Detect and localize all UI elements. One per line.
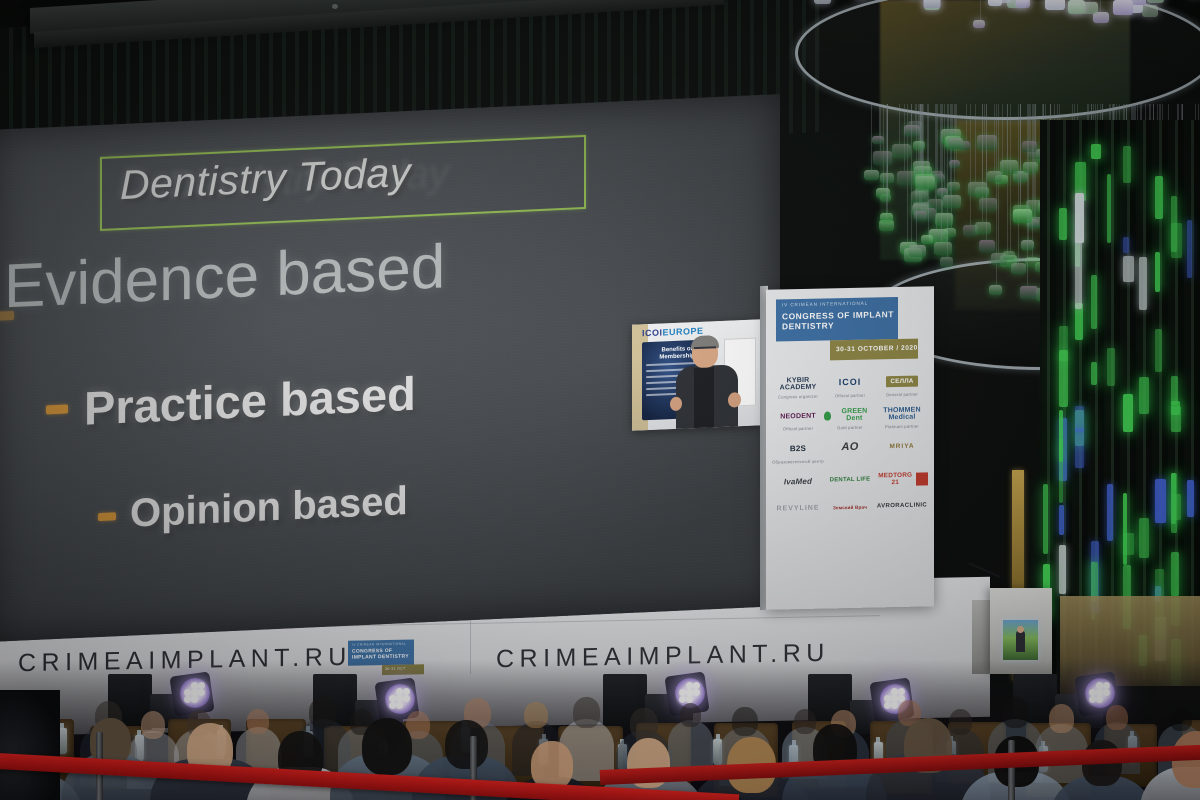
podium-screen-face bbox=[1017, 626, 1024, 633]
neodent-logo: NEODENT bbox=[772, 407, 824, 425]
audience-head bbox=[1002, 697, 1029, 728]
cella-logo-wrap: СЕЛЛА bbox=[876, 372, 928, 390]
sponsor-role bbox=[772, 491, 824, 492]
sponsor-row: B2SОбразовательный центр AO MRIYA bbox=[772, 437, 928, 473]
kybir-academy-logo: KYBIR ACADEMY bbox=[772, 375, 824, 393]
audience-head bbox=[949, 709, 972, 735]
medtorg-square-icon bbox=[916, 472, 928, 485]
slide-line-opinion: Opinion based bbox=[130, 479, 408, 537]
sponsor-cell: DENTAL LIFE bbox=[824, 471, 876, 491]
sponsor-role bbox=[876, 488, 928, 489]
video-logo-europe: EUROPE bbox=[663, 326, 704, 338]
dark-foreground-left bbox=[0, 690, 60, 800]
audience-head bbox=[524, 702, 548, 729]
banner-title: CONGRESS OF IMPLANT DENTISTRY bbox=[782, 309, 898, 331]
audience-head bbox=[247, 709, 269, 734]
avroraclinic-logo: AVRORACLINIC bbox=[876, 497, 928, 515]
sponsor-cell: СЕЛЛАGeneral partner bbox=[876, 372, 928, 397]
sponsor-role bbox=[876, 516, 928, 517]
sponsor-role bbox=[824, 457, 876, 458]
audience-head bbox=[732, 707, 757, 736]
microphone-icon bbox=[969, 562, 1001, 578]
medtorg-logo: MEDTORG 21 bbox=[876, 472, 914, 487]
audience-head bbox=[630, 708, 657, 739]
audience-head bbox=[309, 697, 336, 728]
audience-head bbox=[680, 703, 702, 728]
greendent-logo-wrap: GREEN Dent bbox=[824, 406, 876, 424]
sponsor-cell: NEODENTOfficial partner bbox=[772, 407, 824, 432]
conference-photo: CRIMEAIMPLANT.RU CRIMEAIMPLANT.RU IV CRI… bbox=[0, 0, 1200, 800]
sponsor-cell: GREEN DentGold partner bbox=[824, 406, 876, 431]
medtorg-logo-wrap: MEDTORG 21 bbox=[876, 470, 928, 488]
barrier-post bbox=[1008, 740, 1015, 800]
tooth-leaf-icon bbox=[824, 411, 831, 420]
sponsor-cell: B2SОбразовательный центр bbox=[772, 440, 824, 465]
sponsor-role: Образовательный центр bbox=[772, 458, 824, 464]
b2s-logo: B2S bbox=[772, 440, 824, 458]
podium-screen-figure bbox=[1016, 630, 1025, 652]
slide-line-evidence: Evidence based bbox=[4, 231, 445, 322]
audience-head bbox=[1170, 707, 1192, 732]
sponsor-role: Official partner bbox=[824, 392, 876, 398]
audience-head bbox=[573, 697, 600, 727]
video-speaker-glasses-icon bbox=[694, 346, 716, 354]
icoi-logo: ICOI bbox=[824, 373, 876, 391]
sponsor-cell: AVRORACLINIC bbox=[876, 497, 928, 517]
sponsor-cell: MEDTORG 21 bbox=[876, 470, 928, 490]
greendent-logo: GREEN Dent bbox=[833, 407, 876, 422]
video-speaker-shirt bbox=[694, 367, 714, 428]
audience-head bbox=[1049, 704, 1074, 733]
zemsky-vrach-logo: Земский Врач bbox=[824, 498, 876, 516]
sponsor-role bbox=[824, 489, 876, 490]
audience-head bbox=[1106, 705, 1128, 730]
sponsor-role bbox=[824, 517, 876, 518]
cella-logo: СЕЛЛА bbox=[886, 376, 917, 388]
audience-head bbox=[141, 711, 166, 739]
sponsor-role: Congress organizer bbox=[772, 393, 824, 399]
sponsor-role bbox=[772, 518, 824, 519]
ivamed-logo: IvaMed bbox=[772, 472, 824, 490]
sponsor-banner: IV CRIMEAN INTERNATIONAL CONGRESS OF IMP… bbox=[766, 286, 934, 610]
sponsor-cell: THOMMEN MedicalPlatinum partner bbox=[876, 405, 928, 430]
bullet-dash-icon-2 bbox=[46, 404, 68, 414]
sponsor-logo-grid: KYBIR ACADEMYCongress organizer ICOIOffi… bbox=[772, 372, 928, 528]
sponsor-role bbox=[876, 456, 928, 457]
audience-head-front bbox=[362, 718, 412, 775]
sponsor-cell: MRIYA bbox=[876, 437, 928, 462]
sponsor-cell: IvaMed bbox=[772, 472, 824, 492]
sponsor-row: REVYLINE Земский Врач AVRORACLINIC bbox=[772, 497, 928, 528]
sponsor-cell: AO bbox=[824, 438, 876, 463]
sponsor-row: KYBIR ACADEMYCongress organizer ICOIOffi… bbox=[772, 372, 928, 408]
sponsor-row: NEODENTOfficial partner GREEN DentGold p… bbox=[772, 405, 928, 441]
audience-member bbox=[668, 720, 713, 770]
sponsor-role: General partner bbox=[876, 391, 928, 397]
sponsor-role: Official partner bbox=[772, 426, 824, 432]
sponsor-cell: REVYLINE bbox=[772, 500, 824, 520]
dentallife-logo: DENTAL LIFE bbox=[824, 471, 876, 489]
video-inset-panel: Benefits of Membership ICOIEUROPE bbox=[632, 319, 762, 430]
mriya-logo: MRIYA bbox=[876, 437, 928, 455]
audience-head-front bbox=[445, 720, 488, 770]
sponsor-row: IvaMed DENTAL LIFE MEDTORG 21 bbox=[772, 470, 928, 501]
ceiling-sprinkler-icon bbox=[332, 4, 338, 9]
revyline-logo: REVYLINE bbox=[772, 500, 824, 518]
thommen-logo: THOMMEN Medical bbox=[876, 405, 928, 423]
mini-banner-title: CONGRESS OF IMPLANT DENTISTRY bbox=[352, 648, 412, 661]
sponsor-cell: KYBIR ACADEMYCongress organizer bbox=[772, 375, 824, 400]
sponsor-cell: ICOIOfficial partner bbox=[824, 373, 876, 398]
audience-head-front bbox=[531, 741, 573, 789]
audience-head bbox=[794, 709, 817, 735]
bullet-dash-icon-3 bbox=[98, 512, 116, 521]
ao-logo: AO bbox=[824, 438, 876, 456]
sponsor-role: Gold partner bbox=[824, 424, 876, 430]
slide-line-practice: Practice based bbox=[84, 366, 416, 436]
sponsor-role: Platinum partner bbox=[876, 423, 928, 429]
video-logo-icoi: ICOI bbox=[642, 327, 663, 338]
sponsor-cell: Земский Врач bbox=[824, 498, 876, 518]
